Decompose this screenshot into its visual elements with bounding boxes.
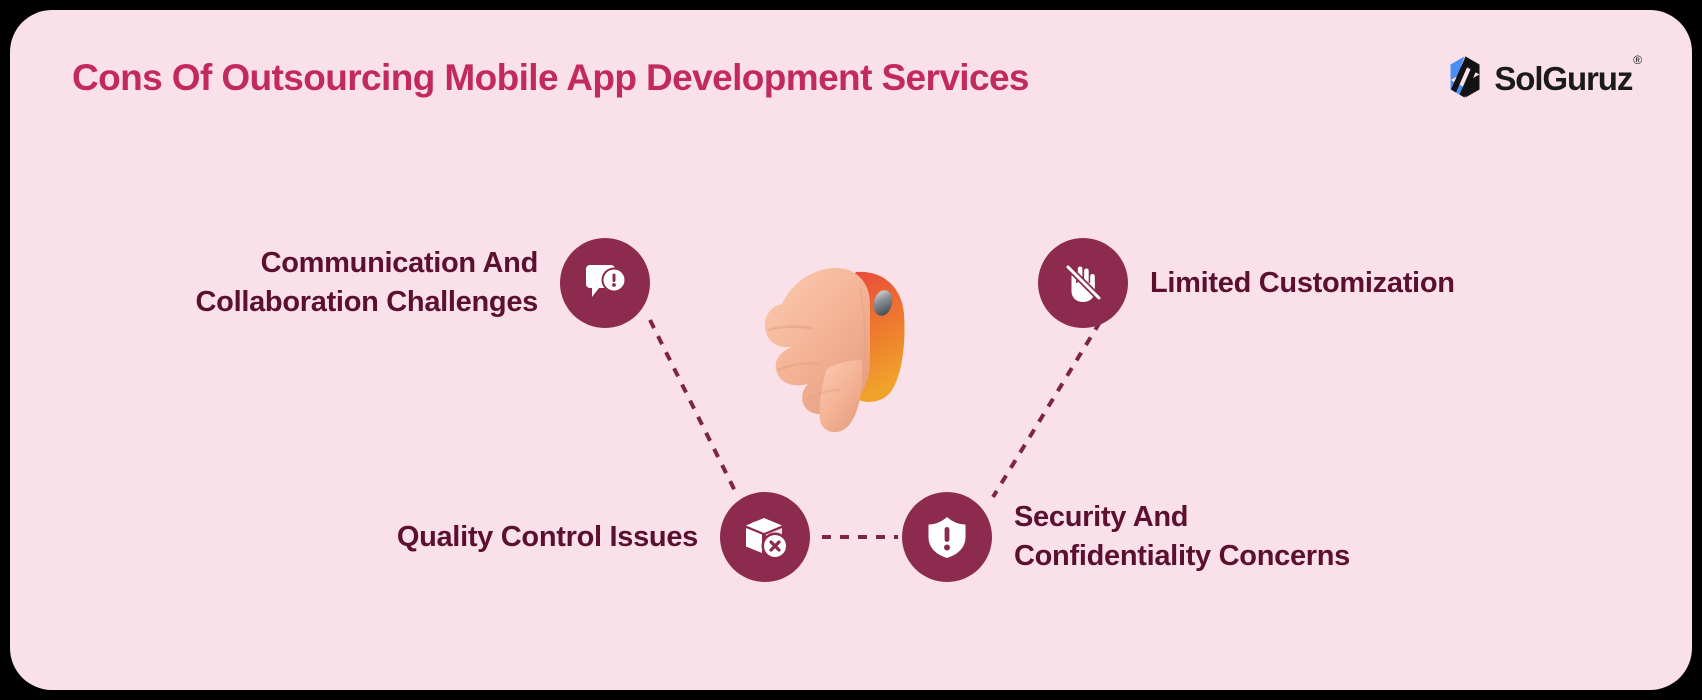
- node-quality-control-icon-circle[interactable]: [720, 492, 810, 582]
- package-box-error-icon: [740, 512, 790, 562]
- speech-bubble-alert-icon: [580, 258, 630, 308]
- node-communication-label: Communication And Collaboration Challeng…: [196, 244, 538, 321]
- node-limited-customization-icon-circle[interactable]: [1038, 238, 1128, 328]
- connector-limited-to-security: [993, 322, 1100, 497]
- shield-alert-icon: [924, 514, 970, 560]
- node-limited-customization-label: Limited Customization: [1150, 264, 1455, 303]
- node-quality-control-label: Quality Control Issues: [397, 518, 698, 557]
- node-quality-control[interactable]: Quality Control Issues: [300, 492, 810, 582]
- no-hand-touch-icon: [1058, 258, 1108, 308]
- node-security-confidentiality-icon-circle[interactable]: [902, 492, 992, 582]
- node-limited-customization[interactable]: Limited Customization: [1038, 238, 1455, 328]
- node-security-confidentiality[interactable]: Security And Confidentiality Concerns: [902, 492, 1350, 582]
- node-communication-icon-circle[interactable]: [560, 238, 650, 328]
- infographic-card: Cons Of Outsourcing Mobile App Developme…: [10, 10, 1692, 690]
- connector-communication-to-quality: [650, 320, 738, 497]
- cons-diagram: Communication And Collaboration Challeng…: [10, 10, 1692, 690]
- thumbs-down-3d-emoji: [752, 248, 942, 438]
- node-communication[interactable]: Communication And Collaboration Challeng…: [110, 238, 650, 328]
- node-security-confidentiality-label: Security And Confidentiality Concerns: [1014, 498, 1350, 575]
